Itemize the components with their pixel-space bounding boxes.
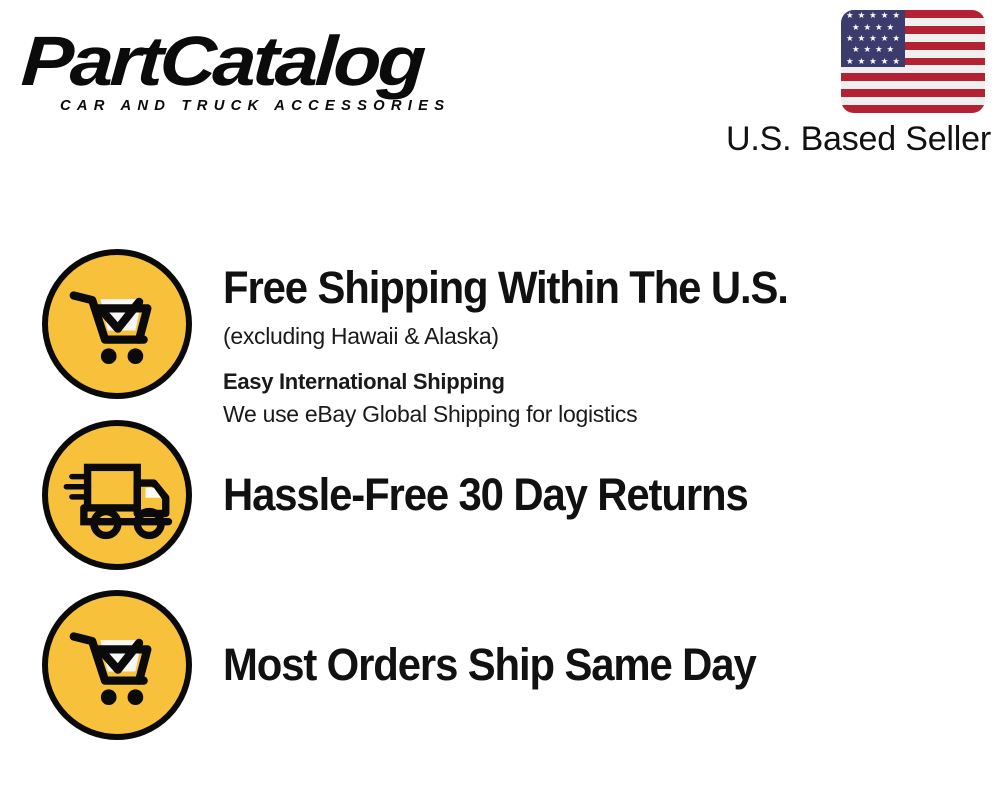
star-icon: ★ [881, 11, 889, 20]
brand-logo[interactable]: PartCatalog CAR AND TRUCK ACCESSORIES [24, 22, 494, 118]
flag-stripe [841, 89, 985, 97]
flag-star-row: ★★★★★ [841, 33, 905, 44]
star-icon: ★ [852, 23, 860, 32]
star-icon: ★ [863, 23, 871, 32]
star-icon: ★ [846, 11, 854, 20]
feature-subheading: Easy International Shipping [223, 367, 983, 397]
star-icon: ★ [858, 57, 866, 66]
flag-stripe [841, 73, 985, 81]
feature-title: Free Shipping Within The U.S. [223, 263, 930, 313]
flag-star-row: ★★★★★ [841, 55, 905, 66]
star-icon: ★ [875, 45, 883, 54]
flag-canton: ★★★★★ ★★★★ ★★★★★ ★★★★ ★★★★★ [841, 10, 905, 67]
flag-stripe [841, 81, 985, 89]
star-icon: ★ [892, 34, 900, 43]
flag-star-row: ★★★★ [841, 21, 905, 32]
star-icon: ★ [892, 11, 900, 20]
star-icon: ★ [875, 23, 883, 32]
brand-wordmark: PartCatalog [19, 22, 424, 100]
seller-caption: U.S. Based Seller [726, 120, 986, 159]
star-icon: ★ [863, 45, 871, 54]
feature-title: Hassle-Free 30 Day Returns [223, 470, 930, 520]
star-icon: ★ [846, 57, 854, 66]
flag-stripe [841, 65, 985, 73]
star-icon: ★ [881, 57, 889, 66]
feature-subnote: (excluding Hawaii & Alaska) [223, 321, 983, 351]
header-bar: PartCatalog CAR AND TRUCK ACCESSORIES ★★… [0, 0, 1000, 175]
flag-star-row: ★★★★ [841, 44, 905, 55]
us-flag-icon: ★★★★★ ★★★★ ★★★★★ ★★★★ ★★★★★ [841, 10, 985, 113]
feature-copy: Hassle-Free 30 Day Returns [223, 470, 983, 520]
star-icon: ★ [869, 57, 877, 66]
feature-title: Most Orders Ship Same Day [223, 640, 930, 690]
star-icon: ★ [852, 45, 860, 54]
star-icon: ★ [858, 34, 866, 43]
star-icon: ★ [858, 11, 866, 20]
star-icon: ★ [881, 34, 889, 43]
feature-copy: Most Orders Ship Same Day [223, 640, 983, 690]
star-icon: ★ [886, 23, 894, 32]
star-icon: ★ [869, 11, 877, 20]
star-icon: ★ [846, 34, 854, 43]
star-icon: ★ [892, 57, 900, 66]
flag-stripe [841, 97, 985, 105]
brand-tagline: CAR AND TRUCK ACCESSORIES [60, 98, 450, 114]
flag-star-row: ★★★★★ [841, 10, 905, 21]
flag-stripe [841, 105, 985, 113]
star-icon: ★ [886, 45, 894, 54]
shopping-cart-check-icon [42, 590, 192, 740]
star-icon: ★ [869, 34, 877, 43]
shopping-cart-check-icon [42, 249, 192, 399]
feature-subdetail: We use eBay Global Shipping for logistic… [223, 399, 983, 429]
feature-copy: Free Shipping Within The U.S. (excluding… [223, 263, 983, 429]
delivery-truck-icon [42, 420, 192, 570]
